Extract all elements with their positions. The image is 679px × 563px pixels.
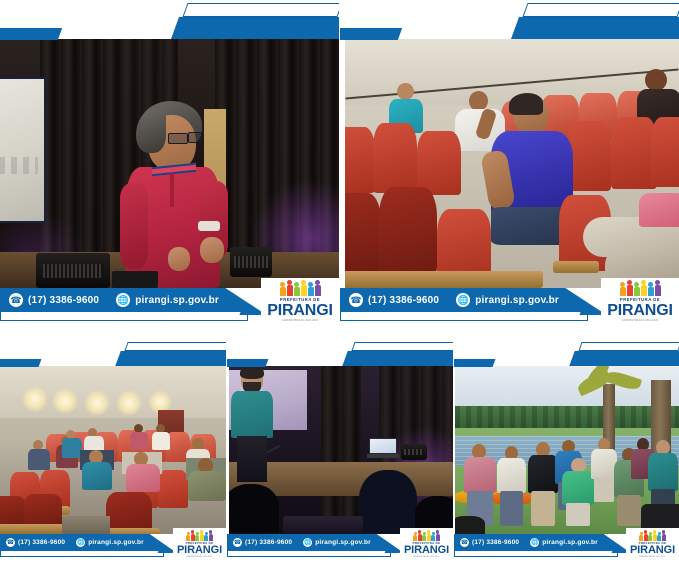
card-audience-seats[interactable]: ☎ (17) 3386-9600 🌐 pirangi.sp.gov.br xyxy=(340,0,679,331)
footer-website[interactable]: 🌐 pirangi.sp.gov.br xyxy=(76,538,144,547)
footer-website[interactable]: 🌐 pirangi.sp.gov.br xyxy=(303,538,371,547)
photo-speaker-red-polo xyxy=(0,39,339,288)
logo-pirangi[interactable]: PREFEITURA DE PIRANGI ADMINISTRACAO 2021… xyxy=(626,528,679,560)
logo-pirangi[interactable]: PREFEITURA DE PIRANGI ADMINISTRACAO 2021… xyxy=(400,528,453,560)
footer-website[interactable]: 🌐 pirangi.sp.gov.br xyxy=(456,293,559,307)
footer-underline-tip xyxy=(612,551,628,553)
logo-people-icon xyxy=(413,530,440,541)
logo-people-icon xyxy=(639,530,666,541)
footer-bar: ☎ (17) 3386-9600 🌐 pirangi.sp.gov.br xyxy=(454,534,628,551)
photo-presenter-stage xyxy=(229,366,453,534)
globe-icon: 🌐 xyxy=(303,538,312,547)
phone-icon: ☎ xyxy=(6,538,15,547)
logo-subtitle: ADMINISTRACAO 2021-2024 xyxy=(414,556,440,558)
decor-outline-bar xyxy=(578,342,679,351)
card-speaker-red-polo[interactable]: ☎ (17) 3386-9600 🌐 pirangi.sp.gov.br xyxy=(0,0,339,331)
decor-tab xyxy=(454,359,495,367)
footer-phone[interactable]: ☎ (17) 3386-9600 xyxy=(9,293,99,307)
decor-tab xyxy=(0,28,62,40)
logo-subtitle: ADMINISTRACAO 2021-2024 xyxy=(622,319,658,322)
footer-underline xyxy=(227,551,391,557)
footer-website[interactable]: 🌐 pirangi.sp.gov.br xyxy=(530,538,598,547)
card-presenter-stage[interactable]: ☎ (17) 3386-9600 🌐 pirangi.sp.gov.br xyxy=(227,340,453,563)
phone-icon: ☎ xyxy=(233,538,242,547)
globe-icon: 🌐 xyxy=(116,293,130,307)
logo-wordmark: PIRANGI xyxy=(607,303,673,318)
card-auditorium-wide[interactable]: ☎ (17) 3386-9600 🌐 pirangi.sp.gov.br xyxy=(0,340,226,563)
logo-subtitle: ADMINISTRACAO 2021-2024 xyxy=(640,556,666,558)
footer-phone[interactable]: ☎ (17) 3386-9600 xyxy=(349,293,439,307)
logo-wordmark: PIRANGI xyxy=(630,545,675,555)
logo-pirangi[interactable]: PREFEITURA DE PIRANGI ADMINISTRACAO 2021… xyxy=(173,528,226,560)
phone-icon: ☎ xyxy=(349,293,363,307)
logo-people-icon xyxy=(620,280,661,296)
footer-bar: ☎ (17) 3386-9600 🌐 pirangi.sp.gov.br xyxy=(227,534,401,551)
logo-wordmark: PIRANGI xyxy=(177,545,222,555)
footer-underline-tip xyxy=(239,312,262,315)
decor-solid-bar xyxy=(342,351,453,366)
photo-group-lakeside xyxy=(455,366,679,534)
footer-underline xyxy=(340,312,588,321)
decor-tab xyxy=(340,28,402,40)
footer-bar: ☎ (17) 3386-9600 🌐 pirangi.sp.gov.br xyxy=(340,288,602,312)
decor-tab xyxy=(227,359,268,367)
logo-pirangi[interactable]: PREFEITURA DE PIRANGI ADMINISTRACAO 2021… xyxy=(601,278,679,324)
photo-audience-seats xyxy=(345,39,679,288)
footer-bar: ☎ (17) 3386-9600 🌐 pirangi.sp.gov.br xyxy=(0,534,174,551)
footer-underline-tip xyxy=(385,551,401,553)
footer-bar: ☎ (17) 3386-9600 🌐 pirangi.sp.gov.br xyxy=(0,288,262,312)
photo-auditorium-wide xyxy=(0,366,226,534)
globe-icon: 🌐 xyxy=(76,538,85,547)
footer-phone[interactable]: ☎ (17) 3386-9600 xyxy=(460,538,519,547)
card-group-lakeside[interactable]: ☎ (17) 3386-9600 🌐 pirangi.sp.gov.br xyxy=(454,340,679,563)
footer-phone[interactable]: ☎ (17) 3386-9600 xyxy=(6,538,65,547)
footer-underline-tip xyxy=(579,312,602,315)
logo-subtitle: ADMINISTRACAO 2021-2024 xyxy=(187,556,213,558)
decor-solid-bar xyxy=(115,351,226,366)
footer-phone[interactable]: ☎ (17) 3386-9600 xyxy=(233,538,292,547)
photo-collage-page: ☎ (17) 3386-9600 🌐 pirangi.sp.gov.br xyxy=(0,0,679,563)
footer-website[interactable]: 🌐 pirangi.sp.gov.br xyxy=(116,293,219,307)
decor-solid-bar xyxy=(171,17,339,39)
logo-pirangi[interactable]: PREFEITURA DE PIRANGI ADMINISTRACAO 2021… xyxy=(261,278,339,324)
phone-icon: ☎ xyxy=(9,293,23,307)
logo-wordmark: PIRANGI xyxy=(267,303,333,318)
decor-tab xyxy=(0,359,41,367)
globe-icon: 🌐 xyxy=(456,293,470,307)
decor-outline-bar xyxy=(351,342,453,351)
globe-icon: 🌐 xyxy=(530,538,539,547)
footer-underline xyxy=(0,551,164,557)
decor-outline-bar xyxy=(124,342,226,351)
decor-solid-bar xyxy=(511,17,679,39)
decor-solid-bar xyxy=(569,351,679,366)
logo-people-icon xyxy=(280,280,321,296)
decor-outline-bar xyxy=(522,3,679,17)
footer-underline xyxy=(454,551,618,557)
phone-icon: ☎ xyxy=(460,538,469,547)
logo-people-icon xyxy=(186,530,213,541)
footer-underline xyxy=(0,312,248,321)
decor-outline-bar xyxy=(182,3,339,17)
logo-wordmark: PIRANGI xyxy=(404,545,449,555)
footer-underline-tip xyxy=(158,551,174,553)
logo-subtitle: ADMINISTRACAO 2021-2024 xyxy=(282,319,318,322)
